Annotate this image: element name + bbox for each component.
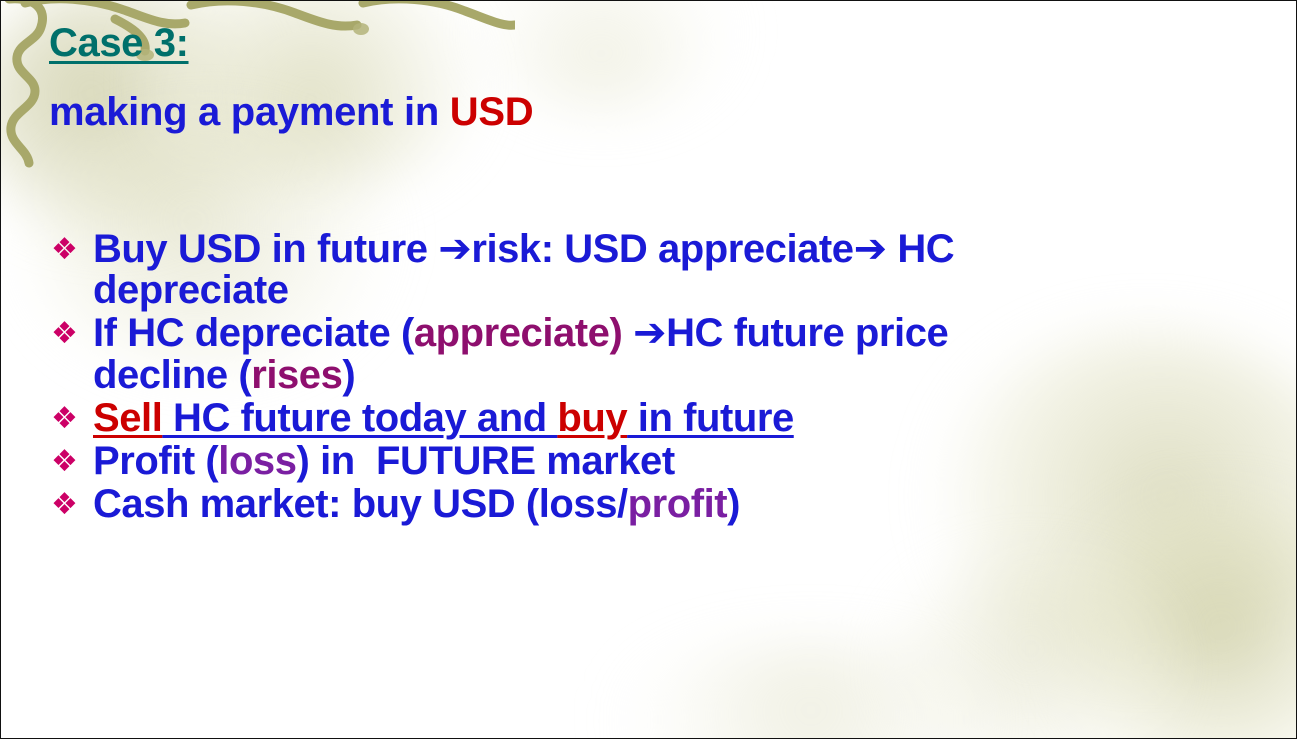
bullet2-text-b: )	[609, 311, 633, 355]
bullet1-text-c: HC	[887, 227, 955, 271]
subtitle-lead: making a payment in	[49, 90, 450, 134]
bullet1-text-b: risk: USD appreciate	[471, 227, 853, 271]
bullet2-text-a: If HC depreciate (	[93, 311, 414, 355]
list-item: ❖ If HC depreciate (appreciate) ➔HC futu…	[45, 313, 1266, 395]
list-item-line: Buy USD in future ➔risk: USD appreciate➔…	[93, 229, 1266, 270]
bullet3-text-mid2: in future	[627, 396, 794, 440]
bullet-list: ❖ Buy USD in future ➔risk: USD appreciat…	[45, 229, 1266, 527]
diamond-bullet-icon: ❖	[51, 315, 77, 353]
bullet4-text-b: ) in FUTURE market	[297, 439, 675, 483]
list-item: ❖ Sell HC future today and buy in future	[45, 398, 1266, 439]
list-item: ❖ Cash market: buy USD (loss/profit)	[45, 484, 1266, 525]
bullet3-emphasis-sell: Sell	[93, 396, 162, 440]
bullet4-text-a: Profit (	[93, 439, 218, 483]
bullet2-text-c: HC future price	[666, 311, 948, 355]
diamond-bullet-icon: ❖	[51, 400, 77, 438]
arrow-right-icon: ➔	[854, 226, 887, 272]
bullet3-emphasis-buy: buy	[557, 396, 627, 440]
bullet1-text-a: Buy USD in future	[93, 227, 438, 271]
list-item-line: Cash market: buy USD (loss/profit)	[93, 484, 1266, 525]
bullet5-text-b: )	[727, 482, 740, 526]
bullet2-emphasis-appreciate: appreciate	[414, 311, 610, 355]
subtitle-highlight-usd: USD	[450, 90, 534, 134]
list-item-line: Profit (loss) in FUTURE market	[93, 441, 1266, 482]
bullet5-emphasis-profit: profit	[628, 482, 728, 526]
diamond-bullet-icon: ❖	[51, 486, 77, 524]
list-item-line: If HC depreciate (appreciate) ➔HC future…	[93, 313, 1266, 354]
slide-subtitle: making a payment in USD	[49, 90, 533, 135]
list-item: ❖ Profit (loss) in FUTURE market	[45, 441, 1266, 482]
bullet3-text-mid1: HC future today and	[162, 396, 557, 440]
arrow-right-icon: ➔	[438, 226, 471, 272]
list-item-line-2: decline (rises)	[93, 355, 1266, 396]
list-item-line: Sell HC future today and buy in future	[93, 398, 1266, 439]
bullet2-line2-b: )	[342, 353, 355, 397]
list-item: ❖ Buy USD in future ➔risk: USD appreciat…	[45, 229, 1266, 311]
page-title: Case 3:	[49, 21, 189, 66]
bullet2-line2-a: decline (	[93, 353, 251, 397]
diamond-bullet-icon: ❖	[51, 231, 77, 269]
arrow-right-icon: ➔	[633, 310, 666, 356]
bullet2-emphasis-rises: rises	[251, 353, 342, 397]
list-item-line-2: depreciate	[93, 270, 1266, 311]
diamond-bullet-icon: ❖	[51, 443, 77, 481]
slide: Case 3: making a payment in USD ❖ Buy US…	[0, 0, 1297, 739]
bullet4-emphasis-loss: loss	[218, 439, 296, 483]
bullet5-text-a: Cash market: buy USD (loss/	[93, 482, 628, 526]
slide-content: Case 3: making a payment in USD ❖ Buy US…	[1, 1, 1296, 738]
